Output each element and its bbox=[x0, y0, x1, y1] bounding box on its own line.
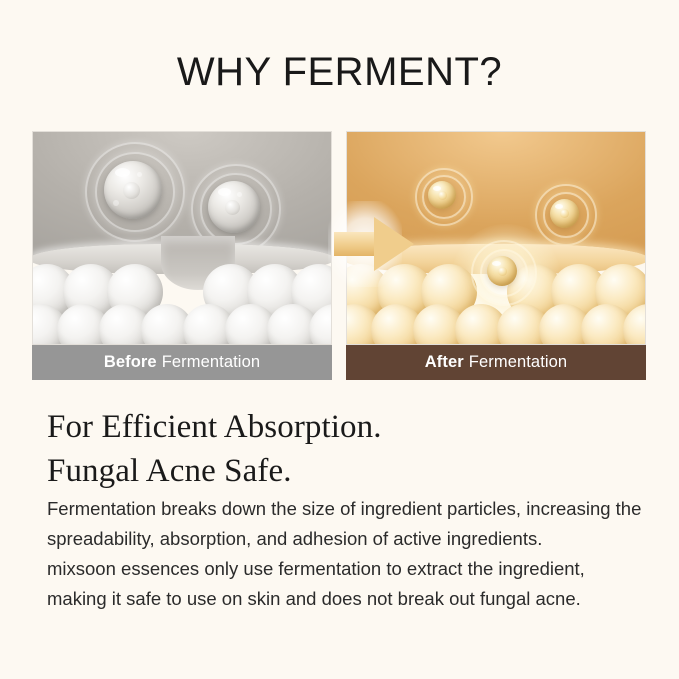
body-copy: Fermentation breaks down the size of ing… bbox=[47, 494, 647, 615]
body-paragraph-1: Fermentation breaks down the size of ing… bbox=[47, 494, 647, 554]
transition-arrow-container bbox=[314, 201, 434, 287]
caption-before-emphasis: Before bbox=[104, 353, 157, 372]
before-molecule-large-1 bbox=[85, 142, 181, 238]
caption-after-fermentation: After Fermentation bbox=[346, 345, 646, 380]
headline-line-1: For Efficient Absorption. bbox=[47, 405, 647, 449]
headline: For Efficient Absorption. Fungal Acne Sa… bbox=[47, 405, 647, 493]
page-title: WHY FERMENT? bbox=[0, 52, 679, 92]
caption-after-emphasis: After bbox=[425, 353, 464, 372]
after-molecule-small-2 bbox=[535, 184, 593, 242]
caption-after-rest: Fermentation bbox=[469, 353, 567, 372]
caption-before-fermentation: Before Fermentation bbox=[32, 345, 332, 380]
caption-before-rest: Fermentation bbox=[162, 353, 260, 372]
after-pearl-row-bottom bbox=[347, 304, 645, 344]
headline-line-2: Fungal Acne Safe. bbox=[47, 449, 647, 493]
before-scene bbox=[33, 132, 331, 344]
right-arrow-icon bbox=[334, 217, 414, 271]
after-molecule-penetrating bbox=[471, 240, 533, 302]
before-after-comparison: Before Fermentation After Fermentation bbox=[32, 131, 646, 380]
panel-before-fermentation bbox=[32, 131, 332, 345]
before-pearl-row-bottom bbox=[33, 304, 331, 344]
body-paragraph-2: mixsoon essences only use fermentation t… bbox=[47, 554, 647, 614]
